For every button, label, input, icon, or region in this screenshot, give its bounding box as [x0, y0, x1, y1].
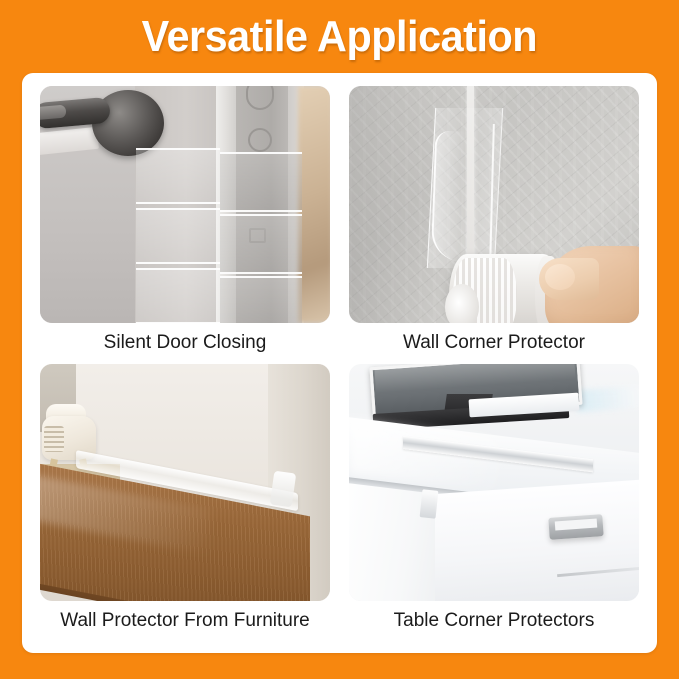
screen-glow: [576, 386, 639, 412]
content-card: Silent Door Closing Wall Corner Protec: [22, 73, 657, 653]
corner-guard-strip-3-face: [136, 268, 220, 323]
corner-guard-strip-1-face: [136, 148, 220, 204]
photo-wall-corner-protector: [349, 86, 639, 323]
thumbnail: [545, 264, 575, 290]
header-bar: Versatile Application: [0, 0, 679, 73]
clear-tape-curl: [431, 131, 466, 262]
photo-wall-protector-from-furniture: [40, 364, 330, 601]
panel-caption: Wall Corner Protector: [349, 332, 639, 354]
panel-caption: Wall Protector From Furniture: [40, 610, 330, 632]
clear-corner-guard-corner: [420, 489, 439, 519]
corner-guard-strip-2-side: [220, 214, 302, 274]
photo-silent-door-closing: [40, 86, 330, 323]
panel-silent-door-closing[interactable]: Silent Door Closing: [40, 86, 330, 354]
cabinet-drawer-front: [435, 479, 639, 601]
panel-table-corner-protectors[interactable]: Table Corner Protectors: [349, 364, 639, 632]
photo-table-corner-protectors: [349, 364, 639, 601]
appliance-grille: [44, 426, 64, 452]
corner-guard-strip-3-side: [220, 276, 302, 323]
panel-grid: Silent Door Closing Wall Corner Protec: [22, 73, 657, 653]
clear-edge-guard-end: [270, 471, 297, 508]
door-marking-circle: [248, 128, 272, 152]
tape-roll-core: [445, 284, 479, 323]
panel-caption: Silent Door Closing: [40, 332, 330, 354]
panel-wall-protector-from-furniture[interactable]: Wall Protector From Furniture: [40, 364, 330, 632]
background-warm-blur: [298, 86, 330, 323]
panel-wall-corner-protector[interactable]: Wall Corner Protector: [349, 86, 639, 354]
panel-caption: Table Corner Protectors: [349, 610, 639, 632]
page-title: Versatile Application: [142, 12, 537, 62]
corner-guard-strip-1-side: [220, 152, 302, 212]
corner-guard-strip-2-face: [136, 208, 220, 264]
